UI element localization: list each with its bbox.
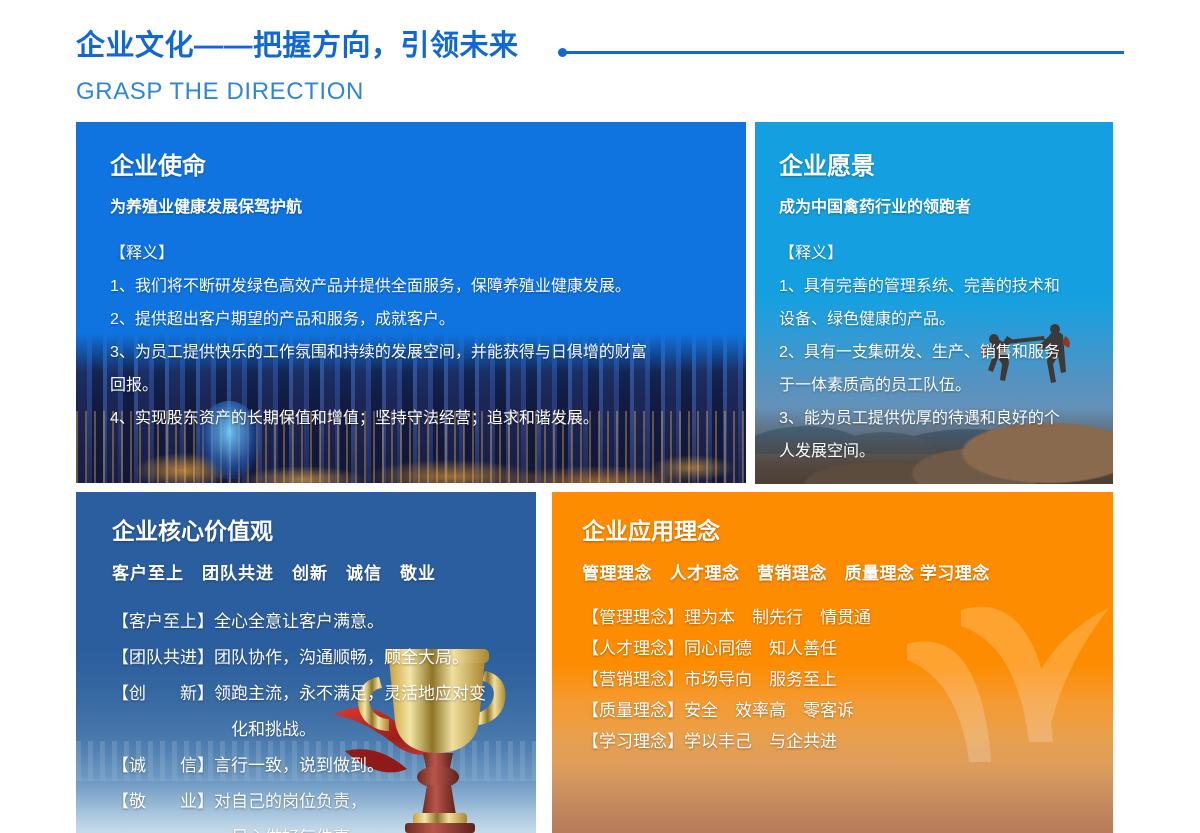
card-philosophy-line: 【学习理念】学以丰己 与企共进 [582, 726, 1083, 757]
card-mission-line: 4、实现股东资产的长期保值和增值；坚持守法经营；追求和谐发展。 [110, 402, 712, 435]
card-values-line: 化和挑战。 [112, 712, 506, 748]
card-values-line: 【诚 信】言行一致，说到做到。 [112, 748, 506, 784]
page-header: 企业文化——把握方向，引领未来 GRASP THE DIRECTION [76, 26, 1124, 106]
corporate-culture-page: 企业文化——把握方向，引领未来 GRASP THE DIRECTION 企业使命… [0, 0, 1200, 833]
card-philosophy-line: 【营销理念】市场导向 服务至上 [582, 664, 1083, 695]
card-mission-content: 企业使命 为养殖业健康发展保驾护航 【释义】 1、我们将不断研发绿色高效产品并提… [76, 122, 746, 435]
card-corporate-mission[interactable]: 企业使命 为养殖业健康发展保驾护航 【释义】 1、我们将不断研发绿色高效产品并提… [76, 122, 746, 483]
card-vision-line: 于一体素质高的员工队伍。 [779, 369, 1089, 402]
card-vision-label: 【释义】 [779, 237, 1089, 270]
card-vision-body: 【释义】 1、具有完善的管理系统、完善的技术和 设备、绿色健康的产品。 2、具有… [779, 237, 1089, 468]
card-vision-line: 1、具有完善的管理系统、完善的技术和 [779, 270, 1089, 303]
card-vision-line: 设备、绿色健康的产品。 [779, 303, 1089, 336]
card-mission-body: 【释义】 1、我们将不断研发绿色高效产品并提供全面服务，保障养殖业健康发展。 2… [110, 237, 712, 435]
card-values-line: 尽心做好每件事。 [112, 820, 506, 833]
card-mission-line: 2、提供超出客户期望的产品和服务，成就客户。 [110, 303, 712, 336]
header-rule-decoration [558, 45, 1124, 59]
card-philosophy-tagline: 管理理念 人才理念 营销理念 质量理念 学习理念 [582, 559, 1083, 584]
card-values-line: 【团队共进】团队协作，沟通顺畅，顾全大局。 [112, 640, 506, 676]
card-vision-line: 3、能为员工提供优厚的待遇和良好的个 [779, 402, 1089, 435]
card-vision-tagline: 成为中国禽药行业的领跑者 [779, 193, 1089, 217]
card-core-values[interactable]: 企业核心价值观 客户至上 团队共进 创新 诚信 敬业 【客户至上】全心全意让客户… [76, 492, 536, 833]
header-line-icon [564, 51, 1124, 54]
card-values-line: 【创 新】领跑主流，永不满足，灵活地应对变 [112, 676, 506, 712]
card-mission-line: 3、为员工提供快乐的工作氛围和持续的发展空间，并能获得与日俱增的财富 [110, 336, 712, 369]
card-values-line: 【客户至上】全心全意让客户满意。 [112, 604, 506, 640]
card-mission-heading: 企业使命 [110, 146, 712, 181]
card-philosophy-heading: 企业应用理念 [582, 512, 1083, 546]
card-philosophy-body: 【管理理念】理为本 制先行 情贯通 【人才理念】同心同德 知人善任 【营销理念】… [582, 602, 1083, 757]
card-values-content: 企业核心价值观 客户至上 团队共进 创新 诚信 敬业 【客户至上】全心全意让客户… [76, 492, 536, 833]
card-corporate-vision[interactable]: 企业愿景 成为中国禽药行业的领跑者 【释义】 1、具有完善的管理系统、完善的技术… [755, 122, 1113, 484]
card-mission-line: 回报。 [110, 369, 712, 402]
card-mission-label: 【释义】 [110, 237, 712, 270]
card-philosophy-content: 企业应用理念 管理理念 人才理念 营销理念 质量理念 学习理念 【管理理念】理为… [552, 492, 1113, 757]
card-values-heading: 企业核心价值观 [112, 512, 506, 546]
page-subtitle: GRASP THE DIRECTION [76, 78, 364, 106]
card-mission-tagline: 为养殖业健康发展保驾护航 [110, 193, 712, 217]
card-philosophy-line: 【管理理念】理为本 制先行 情贯通 [582, 602, 1083, 633]
page-title: 企业文化——把握方向，引领未来 [76, 26, 519, 66]
card-vision-heading: 企业愿景 [779, 146, 1089, 181]
card-values-line: 【敬 业】对自己的岗位负责， [112, 784, 506, 820]
card-philosophy-line: 【质量理念】安全 效率高 零客诉 [582, 695, 1083, 726]
card-values-tagline: 客户至上 团队共进 创新 诚信 敬业 [112, 559, 506, 584]
card-vision-content: 企业愿景 成为中国禽药行业的领跑者 【释义】 1、具有完善的管理系统、完善的技术… [755, 122, 1113, 468]
card-vision-line: 2、具有一支集研发、生产、销售和服务 [779, 336, 1089, 369]
card-mission-line: 1、我们将不断研发绿色高效产品并提供全面服务，保障养殖业健康发展。 [110, 270, 712, 303]
card-philosophy-line: 【人才理念】同心同德 知人善任 [582, 633, 1083, 664]
card-values-body: 【客户至上】全心全意让客户满意。 【团队共进】团队协作，沟通顺畅，顾全大局。 【… [112, 604, 506, 833]
card-application-philosophy[interactable]: 企业应用理念 管理理念 人才理念 营销理念 质量理念 学习理念 【管理理念】理为… [552, 492, 1113, 833]
card-vision-line: 人发展空间。 [779, 435, 1089, 468]
